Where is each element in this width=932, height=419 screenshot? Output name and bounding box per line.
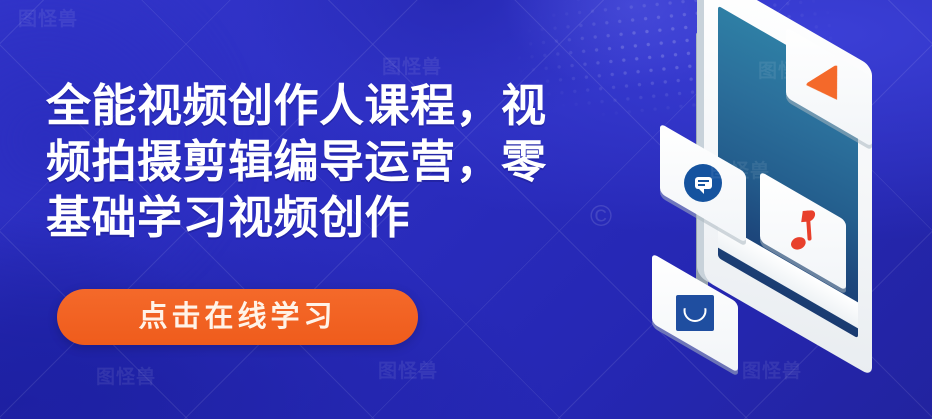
page-title: 全能视频创作人课程，视 频拍摄剪辑编导运营，零 基础学习视频创作 xyxy=(46,78,706,246)
headline-line-2: 频拍摄剪辑编导运营，零 xyxy=(46,134,706,190)
music-note-icon xyxy=(785,210,822,252)
chat-bubble-icon xyxy=(684,164,722,202)
shopping-bag-icon xyxy=(676,295,714,331)
play-triangle-icon xyxy=(805,64,853,110)
course-promo-banner: 全能视频创作人课程，视 频拍摄剪辑编导运营，零 基础学习视频创作 点击在线学习 xyxy=(0,0,932,419)
start-learning-button[interactable]: 点击在线学习 xyxy=(57,289,418,345)
headline-line-1: 全能视频创作人课程，视 xyxy=(46,78,706,134)
isometric-phone-illustration xyxy=(638,0,932,419)
headline-line-3: 基础学习视频创作 xyxy=(46,190,706,246)
